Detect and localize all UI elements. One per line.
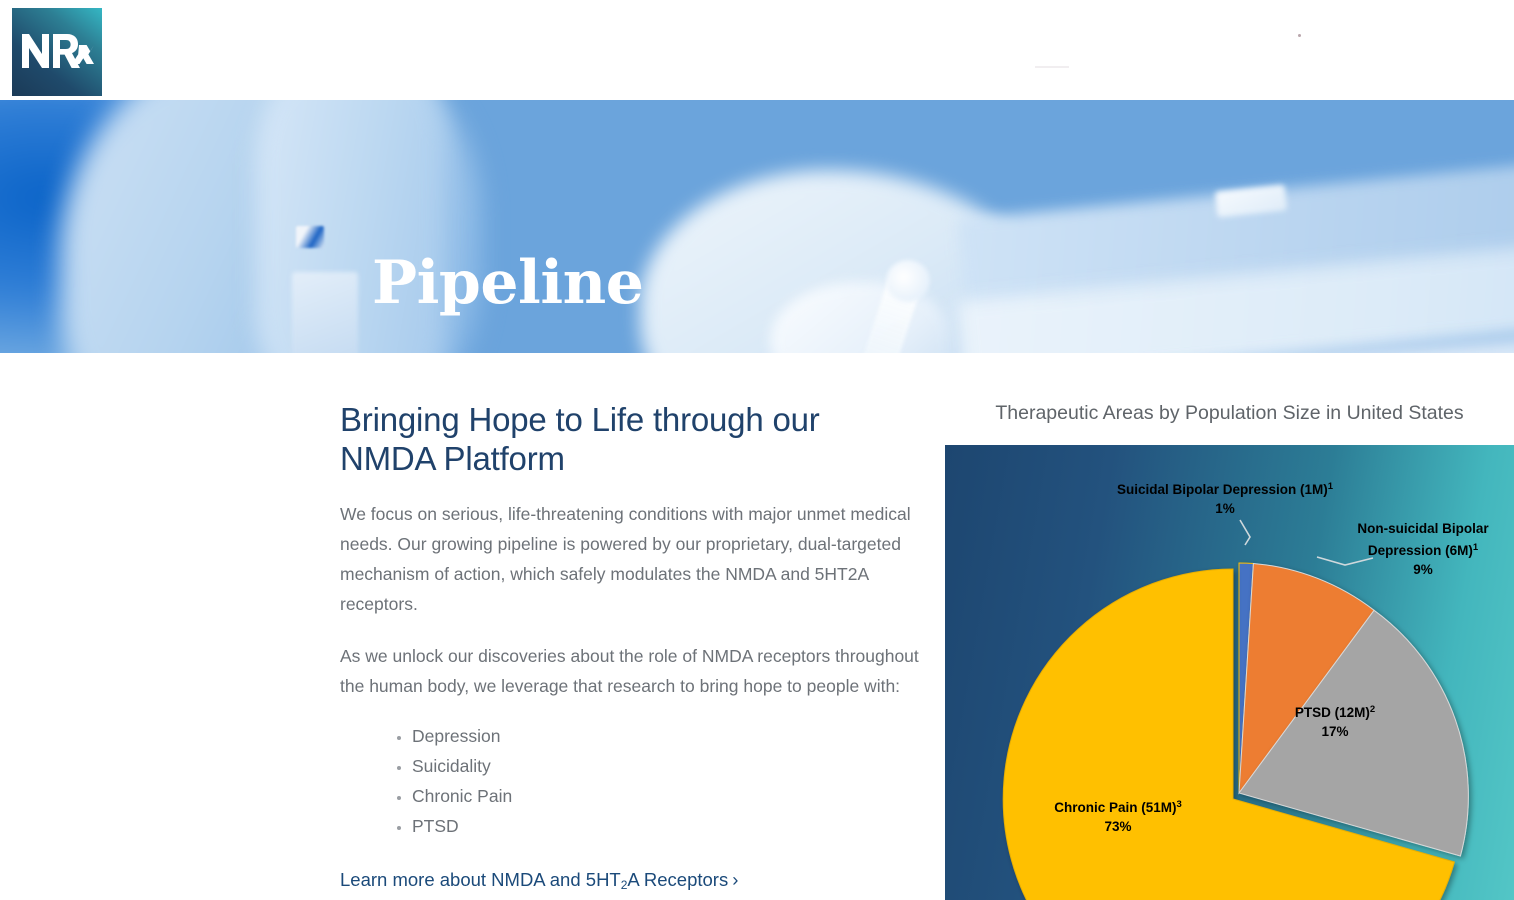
pie-label-chronic-pain: Chronic Pain (51M)3 73% <box>1003 795 1233 836</box>
intro-paragraph-2: As we unlock our discoveries about the r… <box>340 641 920 701</box>
pie-label-nonsuicidal-line1: Non-suicidal Bipolar <box>1357 521 1488 536</box>
lab-coat-badge <box>292 272 358 353</box>
pie-label-chronic-footnote: 3 <box>1176 799 1181 810</box>
pie-label-ptsd-percent: 17% <box>1321 724 1348 739</box>
pie-label-ptsd: PTSD (12M)2 17% <box>1255 700 1415 741</box>
nrx-logo[interactable] <box>12 8 102 96</box>
pie-label-ptsd-footnote: 2 <box>1370 704 1375 715</box>
conditions-list: Depression Suicidality Chronic Pain PTSD <box>340 721 920 841</box>
pie-chart: Suicidal Bipolar Depression (1M)1 1% Non… <box>945 445 1514 900</box>
learn-more-suffix: A Receptors <box>627 869 728 890</box>
section-heading: Bringing Hope to Life through our NMDA P… <box>340 400 920 478</box>
nrx-logo-wordmark <box>20 32 94 72</box>
chart-panel: Therapeutic Areas by Population Size in … <box>945 353 1514 900</box>
pie-label-nonsuicidal-percent: 9% <box>1413 562 1433 577</box>
page-title: Pipeline <box>372 248 643 318</box>
pie-label-chronic-percent: 73% <box>1104 819 1131 834</box>
lab-coat-pen <box>296 226 324 248</box>
pie-label-suicidal-footnote: 1 <box>1328 481 1333 492</box>
list-item: Chronic Pain <box>412 781 920 811</box>
hero-banner: Pipeline <box>0 100 1514 353</box>
pie-label-ptsd-name: PTSD (12M) <box>1295 705 1370 720</box>
content-column: Bringing Hope to Life through our NMDA P… <box>340 400 920 898</box>
header-artifact-dot <box>1298 34 1301 37</box>
hero-background-photo <box>0 100 1514 353</box>
pie-label-non-suicidal-bipolar-depression: Non-suicidal Bipolar Depression (6M)1 9% <box>1343 519 1503 579</box>
learn-more-link[interactable]: Learn more about NMDA and 5HT2A Receptor… <box>340 867 738 898</box>
chart-title: Therapeutic Areas by Population Size in … <box>945 400 1514 426</box>
pie-label-suicidal-percent: 1% <box>1215 501 1235 516</box>
main-content: Bringing Hope to Life through our NMDA P… <box>0 353 1514 900</box>
list-item: PTSD <box>412 811 920 841</box>
site-header <box>0 0 1514 100</box>
pie-label-nonsuicidal-line2: Depression (6M) <box>1368 543 1473 558</box>
chevron-right-icon: › <box>732 869 738 890</box>
intro-paragraph-1: We focus on serious, life-threatening co… <box>340 499 920 619</box>
pie-label-nonsuicidal-footnote: 1 <box>1473 542 1478 553</box>
list-item: Suicidality <box>412 751 920 781</box>
pie-label-chronic-name: Chronic Pain (51M) <box>1054 800 1176 815</box>
learn-more-prefix: Learn more about NMDA and 5HT <box>340 869 621 890</box>
leader-line-suicidal <box>1240 520 1250 545</box>
pie-label-suicidal-bipolar-depression: Suicidal Bipolar Depression (1M)1 1% <box>1095 477 1355 518</box>
pie-label-suicidal-name: Suicidal Bipolar Depression (1M) <box>1117 482 1328 497</box>
header-artifact-line <box>1035 66 1069 68</box>
list-item: Depression <box>412 721 920 751</box>
